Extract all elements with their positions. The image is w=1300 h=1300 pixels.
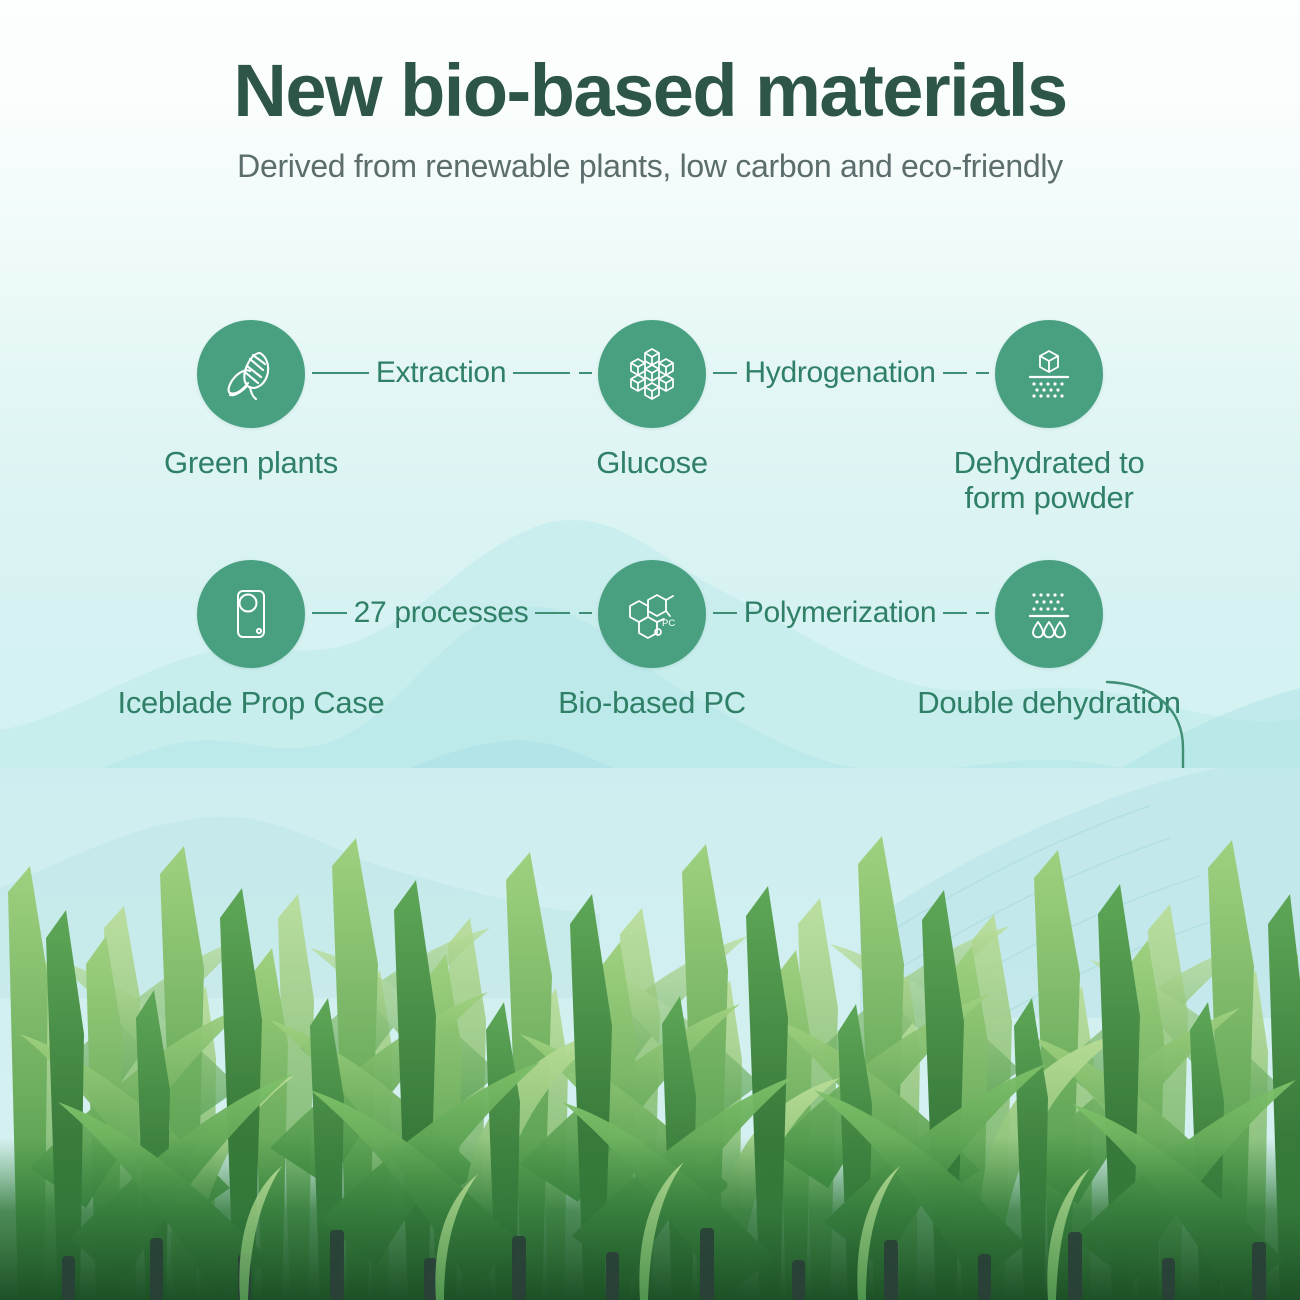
flow-node-green-plants[interactable]: Green plants [101, 320, 401, 481]
molecule-o-atom [655, 629, 661, 635]
phone-case-icon [220, 583, 282, 645]
bio-based-pc-circle[interactable]: PC [598, 560, 706, 668]
sugar-cubes-icon [621, 343, 683, 405]
connector-line-left [312, 372, 369, 374]
flow-node-label: Glucose [502, 446, 802, 481]
flow-row-1: Green plants Extraction [0, 320, 1300, 520]
flow-node-label: Dehydrated to form powder [899, 446, 1199, 515]
connector-line-left [713, 372, 737, 374]
flow-row-2: Iceblade Prop Case 27 processes [0, 560, 1300, 760]
connector-line-left [713, 612, 737, 614]
powder-droplets-icon [1018, 583, 1080, 645]
glucose-circle[interactable] [598, 320, 706, 428]
page-subtitle: Derived from renewable plants, low carbo… [0, 148, 1300, 185]
dehydrated-powder-circle[interactable] [995, 320, 1103, 428]
process-flow-diagram: Green plants Extraction [0, 300, 1300, 750]
iceblade-prop-case-circle[interactable] [197, 560, 305, 668]
sugarcane-field-photo [0, 768, 1300, 1300]
header: New bio-based materials Derived from ren… [0, 52, 1300, 185]
flow-node-label: Green plants [101, 446, 401, 481]
flow-node-double-dehydration[interactable]: Double dehydration [899, 560, 1199, 721]
poster-root: New bio-based materials Derived from ren… [0, 0, 1300, 1300]
connector-label: Extraction [369, 356, 513, 390]
connector-line-left [312, 612, 347, 614]
flow-node-label: Iceblade Prop Case [101, 686, 401, 721]
flow-node-label: Double dehydration [899, 686, 1199, 721]
flow-node-bio-based-pc[interactable]: PC Bio-based PC [502, 560, 802, 721]
sugarcane-illustration [0, 768, 1300, 1300]
double-dehydration-circle[interactable] [995, 560, 1103, 668]
corn-icon [220, 343, 282, 405]
flow-node-iceblade-prop-case[interactable]: Iceblade Prop Case [101, 560, 401, 721]
molecule-pc-icon: PC [620, 582, 684, 646]
cube-powder-icon [1018, 343, 1080, 405]
green-plants-circle[interactable] [197, 320, 305, 428]
molecule-pc-label: PC [662, 618, 675, 629]
flow-node-dehydrated-powder[interactable]: Dehydrated to form powder [899, 320, 1199, 515]
flow-node-glucose[interactable]: Glucose [502, 320, 802, 481]
page-title: New bio-based materials [0, 52, 1300, 130]
flow-node-label: Bio-based PC [502, 686, 802, 721]
